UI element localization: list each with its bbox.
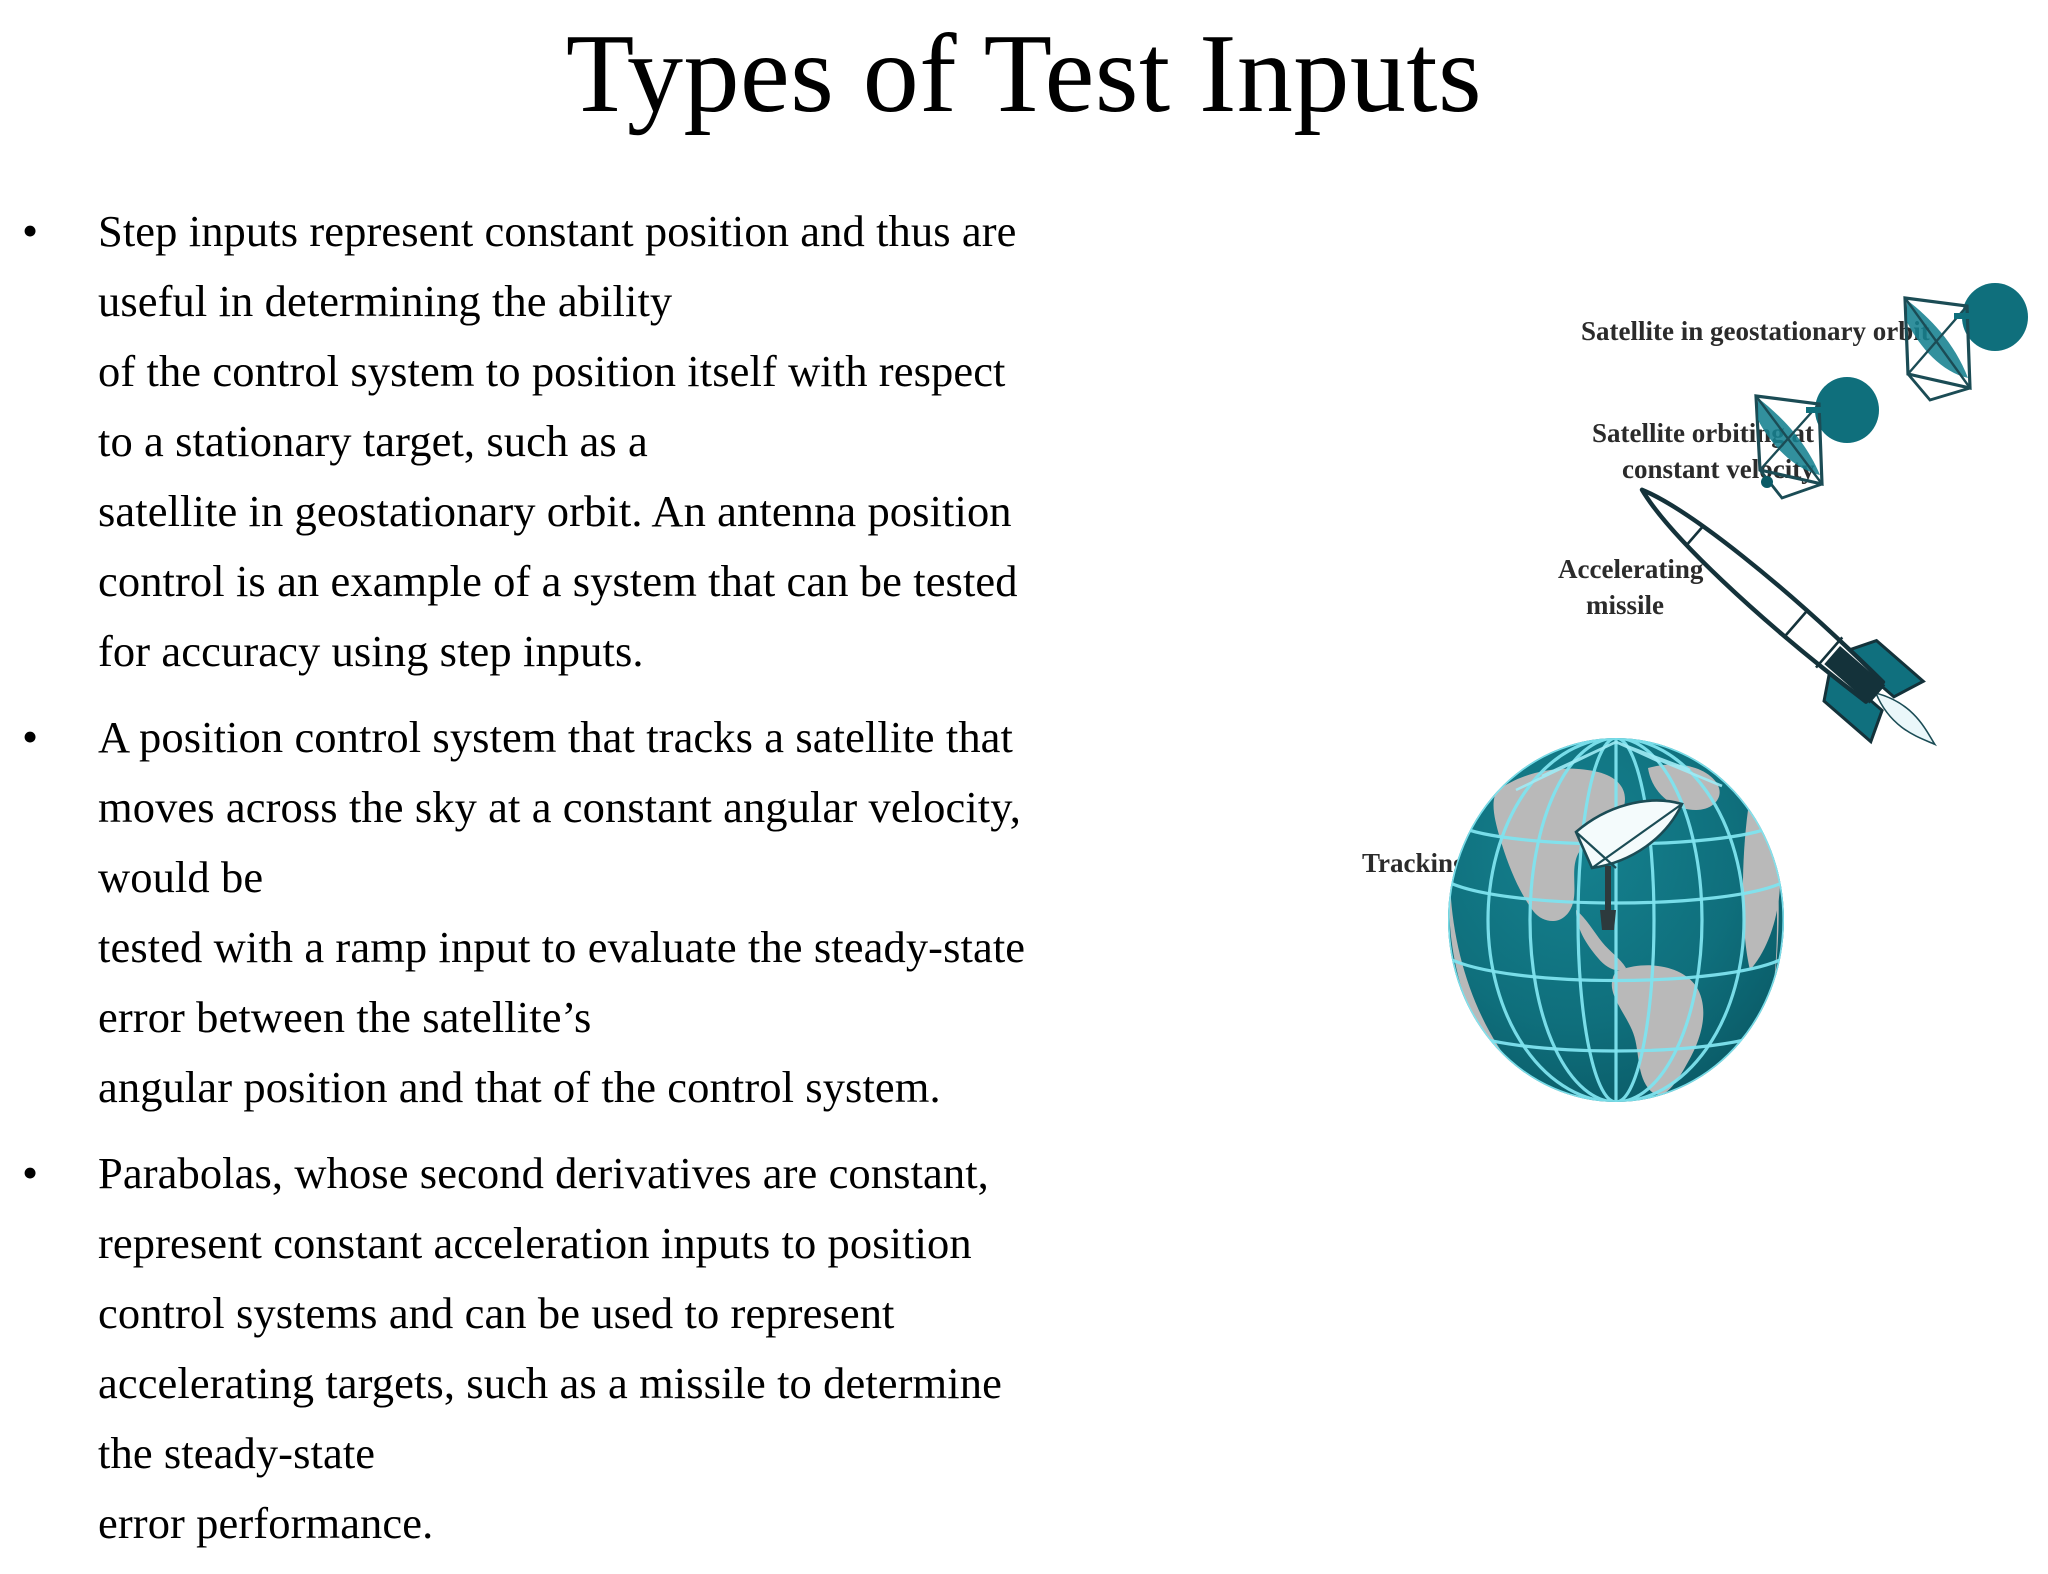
bullet-icon: • [22, 196, 38, 266]
bullet-icon: • [22, 702, 38, 772]
list-item: • Step inputs represent constant positio… [0, 196, 1340, 686]
bullet-line: for accuracy using step inputs. [98, 616, 1340, 686]
bullet-line: to a stationary target, such as a [98, 406, 1340, 476]
bullet-line: of the control system to position itself… [98, 336, 1340, 406]
bullet-line: accelerating targets, such as a missile … [98, 1348, 1340, 1418]
bullet-icon: • [22, 1138, 38, 1208]
bullet-line: Parabolas, whose second derivatives are … [98, 1138, 1340, 1208]
label-accelerating-missile-line2: missile [1586, 590, 1664, 620]
bullet-line: control systems and can be used to repre… [98, 1278, 1340, 1348]
bullet-line: tested with a ramp input to evaluate the… [98, 912, 1340, 982]
bullet-list: • Step inputs represent constant positio… [0, 196, 1340, 1574]
page-title: Types of Test Inputs [0, 16, 2048, 134]
bullet-line: represent constant acceleration inputs t… [98, 1208, 1340, 1278]
bullet-line: Step inputs represent constant position … [98, 196, 1340, 266]
tracking-system-figure: Satellite in geostationary orbit Satelli… [1330, 270, 2048, 1370]
bullet-line: would be [98, 842, 1340, 912]
label-geostationary-orbit: Satellite in geostationary orbit [1581, 316, 1930, 346]
accelerating-missile-icon [1616, 460, 1961, 775]
bullet-line: control is an example of a system that c… [98, 546, 1340, 616]
bullet-line: satellite in geostationary orbit. An ant… [98, 476, 1340, 546]
label-constant-velocity-line2: constant velocity [1622, 454, 1815, 484]
list-item: • A position control system that tracks … [0, 702, 1340, 1122]
bullet-line: useful in determining the ability [98, 266, 1340, 336]
satellite-dish-geostationary-icon [1905, 283, 2028, 400]
bullet-line: angular position and that of the control… [98, 1052, 1340, 1122]
bullet-line: error between the satellite’s [98, 982, 1340, 1052]
bullet-line: error performance. [98, 1488, 1340, 1558]
bullet-line: A position control system that tracks a … [98, 702, 1340, 772]
list-item: • Parabolas, whose second derivatives ar… [0, 1138, 1340, 1558]
label-accelerating-missile-line1: Accelerating [1558, 554, 1704, 584]
globe-icon [1448, 738, 1784, 1102]
bullet-line: moves across the sky at a constant angul… [98, 772, 1340, 842]
bullet-line: the steady-state [98, 1418, 1340, 1488]
